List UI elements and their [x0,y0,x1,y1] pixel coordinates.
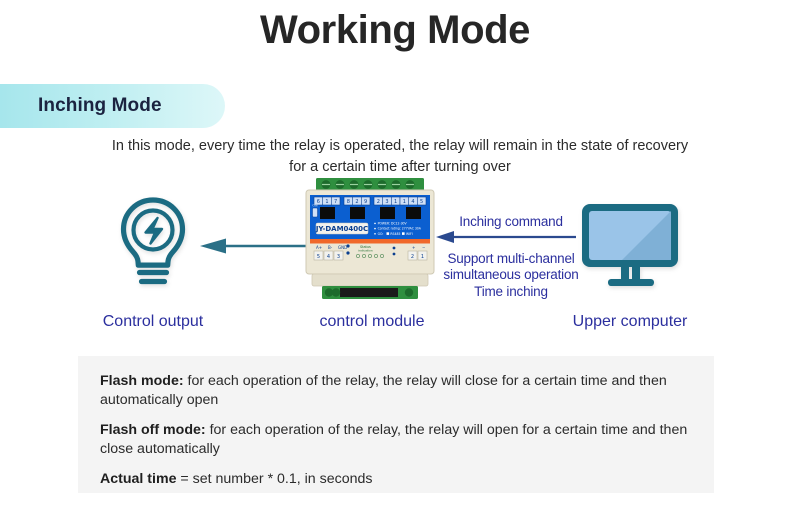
svg-text:3: 3 [337,254,340,260]
svg-text:1: 1 [394,199,397,205]
svg-text:1: 1 [403,199,406,205]
note-actual-time: Actual time = set number * 0.1, in secon… [100,470,692,489]
command-line-2: simultaneous operation [436,267,586,283]
inching-command-title: Inching command [436,214,586,229]
working-mode-infographic: Working Mode Inching Mode In this mode, … [0,0,790,508]
svg-text:WIFI: WIFI [406,232,413,236]
svg-text:7: 7 [334,199,337,205]
svg-text:JY-DAM0400C: JY-DAM0400C [315,225,368,233]
diagram-area: Control output [0,178,790,348]
note-flash-off-mode: Flash off mode: for each operation of th… [100,421,692,459]
control-module-device: 6 1 7 8 2 9 [296,178,444,302]
notes-panel: Flash mode: for each operation of the re… [78,356,714,493]
svg-text:4: 4 [411,199,414,205]
control-output-label: Control output [58,313,248,331]
mode-badge-label: Inching Mode [38,95,162,117]
svg-text:GND: GND [338,245,347,250]
inching-command-lines: Support multi-channel simultaneous opera… [436,251,586,300]
arrow-left-icon [436,230,576,244]
svg-text:9: 9 [364,199,367,205]
note-term: Actual time [100,471,176,487]
svg-text:Contact rating: 277VAC 30A: Contact rating: 277VAC 30A [378,227,422,231]
note-term: Flash mode: [100,373,184,389]
svg-text:1: 1 [325,199,328,205]
svg-text:5: 5 [317,254,320,260]
svg-text:2: 2 [377,199,380,205]
svg-text:1: 1 [421,254,424,260]
svg-text:2: 2 [355,199,358,205]
svg-text:8: 8 [347,199,350,205]
svg-text:−: − [422,245,425,250]
page-title: Working Mode [0,8,790,53]
note-term: Flash off mode: [100,422,206,438]
svg-text:RS485: RS485 [390,232,400,236]
svg-text:POWER: DC12-30V: POWER: DC12-30V [378,222,408,226]
lightbulb-lightning-icon [112,194,194,290]
inching-command-block: Inching command Support multi-channel si… [436,214,586,300]
arrow-left-icon [200,237,308,255]
svg-text:4: 4 [327,254,330,260]
svg-text:indication: indication [358,248,373,252]
svg-text:ON: ON [312,203,318,207]
svg-text:A+: A+ [316,245,322,250]
monitor-icon [578,200,682,290]
mode-description: In this mode, every time the relay is op… [110,136,690,178]
command-line-1: Support multi-channel [436,251,586,267]
mode-badge: Inching Mode [0,84,225,128]
svg-text:2: 2 [411,254,414,260]
svg-text:3: 3 [385,199,388,205]
svg-text:B-: B- [328,245,333,250]
svg-text:5: 5 [420,199,423,205]
svg-text:+: + [412,245,415,250]
svg-text:GO:: GO: [378,232,384,236]
command-line-3: Time inching [436,284,586,300]
note-text: for each operation of the relay, the rel… [100,373,667,408]
upper-computer-label: Upper computer [540,313,720,331]
note-text: = set number * 0.1, in seconds [176,471,372,487]
control-module-label: control module [284,313,460,331]
note-flash-mode: Flash mode: for each operation of the re… [100,372,692,410]
